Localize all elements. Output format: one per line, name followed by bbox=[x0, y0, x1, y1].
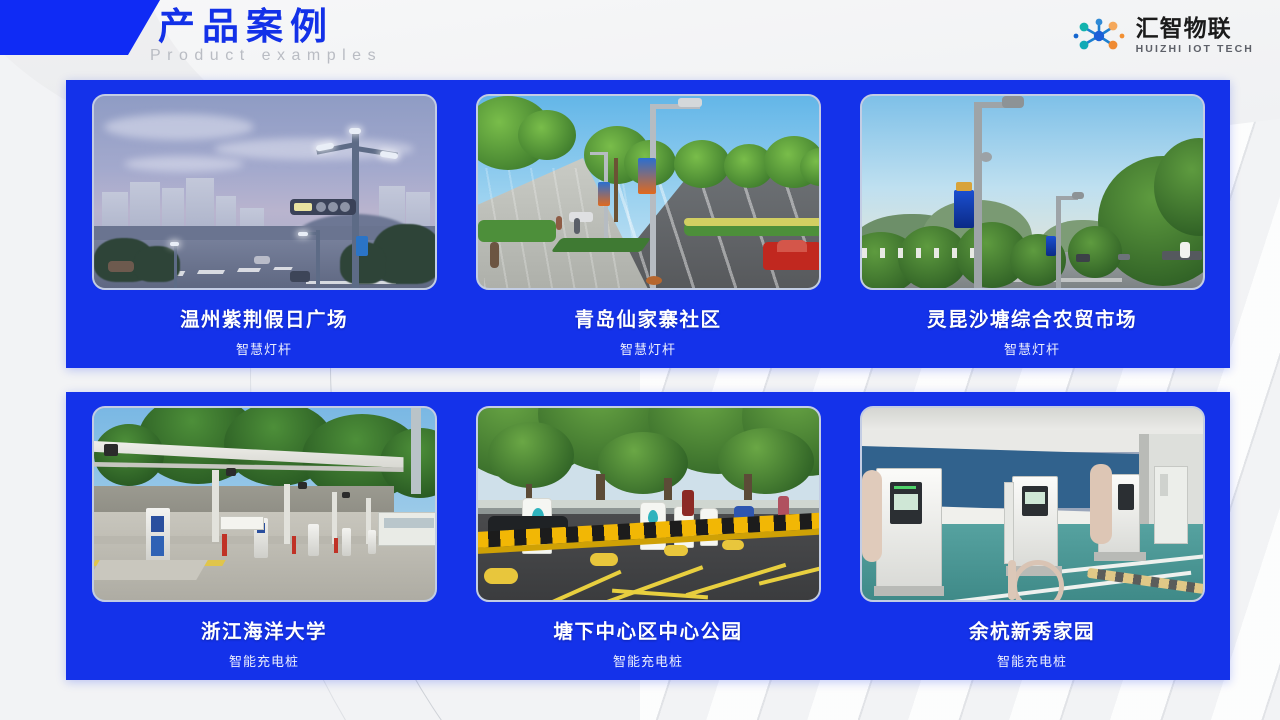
case-thumbnail-charging-canopy[interactable] bbox=[92, 406, 437, 602]
case-card-title: 灵昆沙塘综合农贸市场 bbox=[927, 303, 1137, 332]
page-subtitle: Product examples bbox=[150, 47, 382, 65]
case-card-title: 余杭新秀家园 bbox=[969, 615, 1095, 644]
case-thumbnail-green-street-rendering[interactable] bbox=[476, 94, 821, 290]
brand-logo: 汇智物联 HUIZHI IOT TECH bbox=[1071, 16, 1254, 56]
case-card-subtitle: 智能充电桩 bbox=[997, 651, 1067, 670]
case-thumbnail-indoor-garage-chargers[interactable] bbox=[860, 406, 1205, 602]
header-blue-tab bbox=[0, 0, 160, 55]
case-thumbnail-dusk-city-road[interactable] bbox=[92, 94, 437, 290]
logo-name-cn: 汇智物联 bbox=[1136, 17, 1254, 40]
case-card[interactable]: 灵昆沙塘综合农贸市场 智慧灯杆 bbox=[852, 94, 1212, 358]
case-card-subtitle: 智慧灯杆 bbox=[236, 339, 292, 358]
case-thumbnail-roadside-smart-poles[interactable] bbox=[860, 94, 1205, 290]
case-card-subtitle: 智慧灯杆 bbox=[1004, 339, 1060, 358]
case-card[interactable]: 浙江海洋大学 智能充电桩 bbox=[84, 406, 444, 670]
molecule-network-icon bbox=[1071, 16, 1127, 56]
case-card[interactable]: 塘下中心区中心公园 智能充电桩 bbox=[468, 406, 828, 670]
case-card[interactable]: 青岛仙家寨社区 智慧灯杆 bbox=[468, 94, 828, 358]
case-card-title: 青岛仙家寨社区 bbox=[574, 303, 721, 332]
case-card-subtitle: 智能充电桩 bbox=[229, 651, 299, 670]
case-card-title: 温州紫荆假日广场 bbox=[180, 303, 348, 332]
logo-text-block: 汇智物联 HUIZHI IOT TECH bbox=[1136, 17, 1254, 55]
case-card-subtitle: 智能充电桩 bbox=[613, 651, 683, 670]
page-title: 产品案例 bbox=[158, 4, 334, 50]
case-card[interactable]: 余杭新秀家园 智能充电桩 bbox=[852, 406, 1212, 670]
case-card-title: 浙江海洋大学 bbox=[201, 615, 327, 644]
case-card-subtitle: 智慧灯杆 bbox=[620, 339, 676, 358]
case-thumbnail-outdoor-charging-lot[interactable] bbox=[476, 406, 821, 602]
case-card-title: 塘下中心区中心公园 bbox=[553, 615, 742, 644]
ev-charging-row: 浙江海洋大学 智能充电桩 bbox=[66, 392, 1230, 680]
case-card[interactable]: 温州紫荆假日广场 智慧灯杆 bbox=[84, 94, 444, 358]
smart-lamp-pole-row: 温州紫荆假日广场 智慧灯杆 bbox=[66, 80, 1230, 368]
logo-name-en: HUIZHI IOT TECH bbox=[1136, 44, 1254, 55]
